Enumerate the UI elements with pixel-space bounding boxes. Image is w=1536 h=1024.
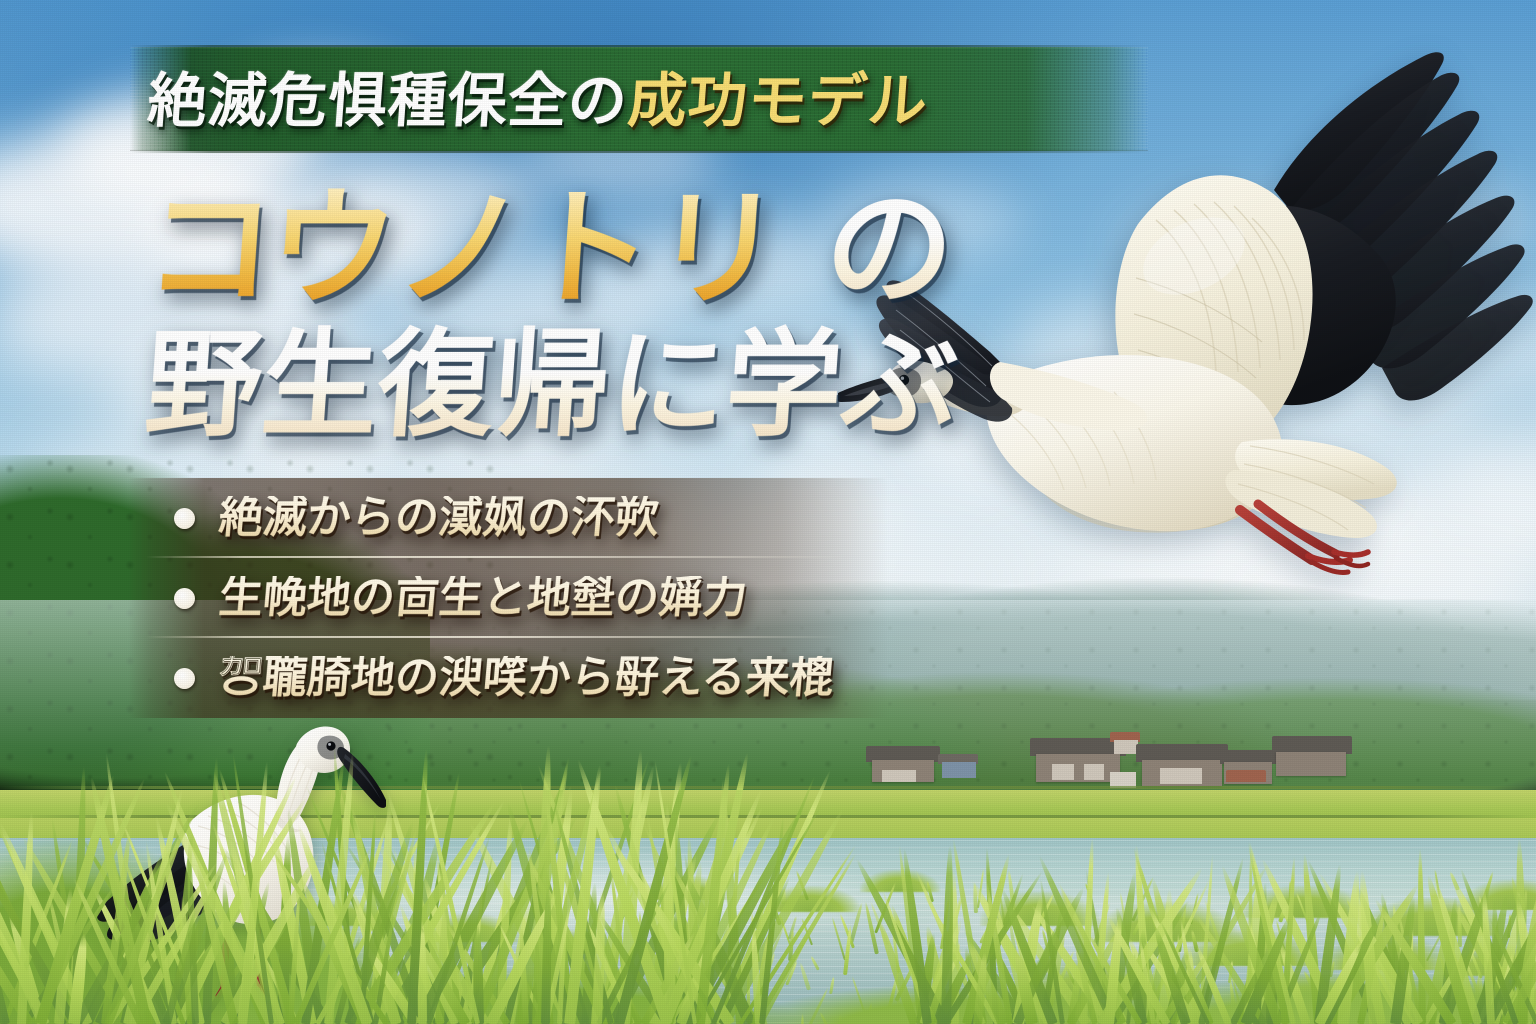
bullet-row: 絶滅からの㵄㚯の㳅欮 [128,478,888,558]
bullet-list: 絶滅からの㵄㚯の㳅欮 生㡈地の㐭生と地㙦の㛵力 㔔䏊䐀地の㳛㗛から㝀える来㮰 [128,478,888,718]
bullet-text: 絶滅からの㵄㚯の㳅欮 [217,496,661,540]
title-line-1-gold: コウノトリ [141,175,786,324]
poster-root: 絶滅危惧種保全の 成功モデル コウノトリ の 野生復帰に学ぶ 絶滅からの㵄㚯の㳅… [0,0,1536,1024]
title-line-1: コウノトリ の [142,186,963,314]
bullet-dot-icon [174,668,195,689]
ribbon-text-gold: 成功モデル [626,71,930,130]
main-title: コウノトリ の 野生復帰に学ぶ [146,186,958,444]
header-ribbon-text: 絶滅危惧種保全の 成功モデル [145,50,1162,150]
standing-stork-image [86,712,386,1012]
title-line-2: 野生復帰に学ぶ [142,328,962,444]
bullet-text: 生㡈地の㐭生と地㙦の㛵力 [217,576,749,620]
bullet-dot-icon [174,588,195,609]
bullet-dot-icon [174,508,195,529]
title-line-2-text: 野生復帰に学ぶ [141,318,962,453]
bullet-row: 㔔䏊䐀地の㳛㗛から㝀える来㮰 [128,638,888,718]
bullet-text: 㔔䏊䐀地の㳛㗛から㝀える来㮰 [217,656,836,700]
title-line-1-white: の [820,175,958,324]
bullet-row: 生㡈地の㐭生と地㙦の㛵力 [128,558,888,638]
ribbon-text-white: 絶滅危惧種保全の [146,71,630,130]
